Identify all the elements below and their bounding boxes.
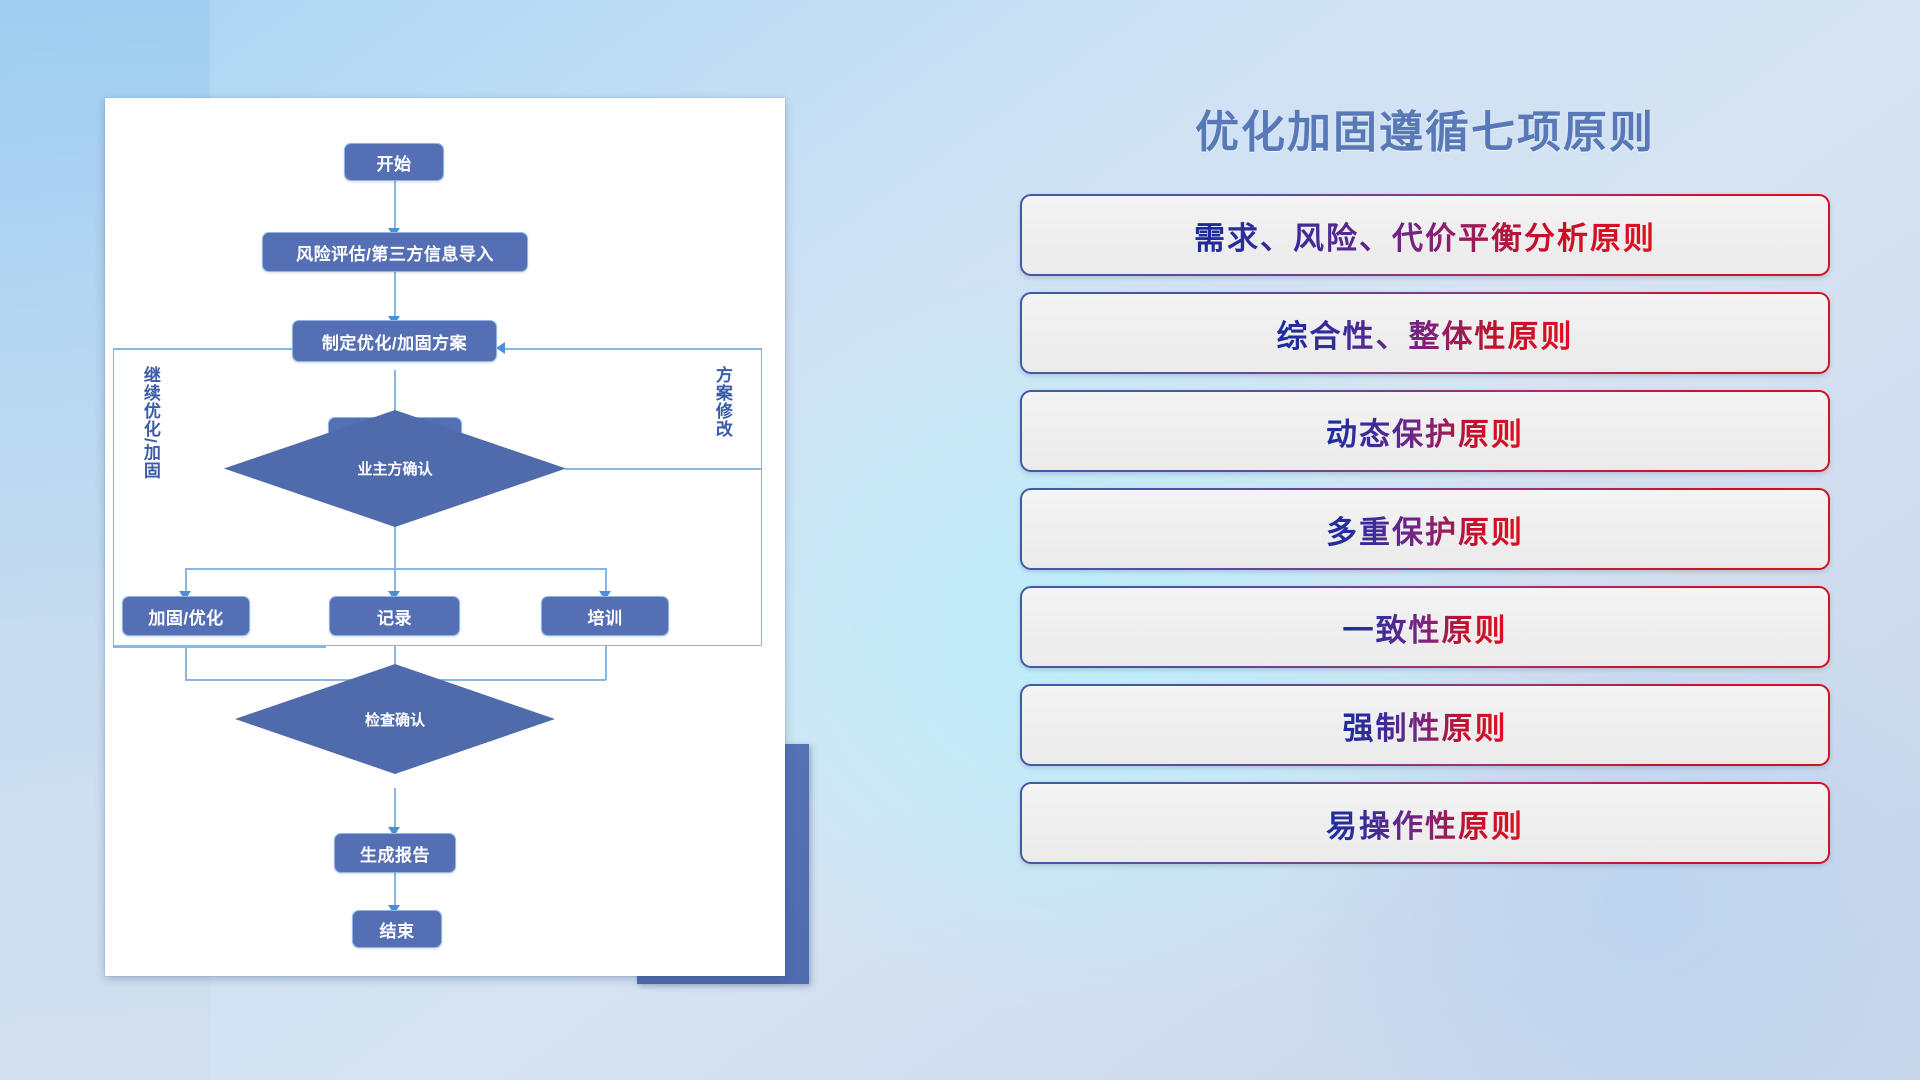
principle-card-inner: 综合性、整体性原则 [1022, 294, 1828, 372]
flow-node-start[interactable]: 开始 [344, 143, 444, 181]
principle-card[interactable]: 动态保护原则 [1020, 390, 1830, 472]
connector-reinforce-merge [185, 646, 187, 680]
arrowhead-rightloop-plan [496, 342, 505, 354]
connector-check-leftloop [113, 646, 326, 648]
principle-card[interactable]: 强制性原则 [1020, 684, 1830, 766]
principle-card-inner: 易操作性原则 [1022, 784, 1828, 862]
principle-card-inner: 多重保护原则 [1022, 490, 1828, 568]
principle-card-inner: 需求、风险、代价平衡分析原则 [1022, 196, 1828, 274]
flow-node-plan-label: 制定优化/加固方案 [322, 329, 467, 354]
panel-title: 优化加固遵循七项原则 [1020, 96, 1830, 160]
connector-owner-rightloop [565, 468, 762, 470]
flow-node-end[interactable]: 结束 [352, 910, 442, 948]
principle-card[interactable]: 需求、风险、代价平衡分析原则 [1020, 194, 1830, 276]
principle-card-label: 一致性原则 [1343, 605, 1508, 650]
edge-label-plan-revision: 方案修改 [713, 366, 731, 438]
flowchart-card: 继续优化/加固 方案修改 [105, 98, 785, 976]
flow-node-record-label: 记录 [377, 604, 412, 629]
principle-card-label: 动态保护原则 [1326, 409, 1524, 454]
flow-node-owner-confirm-label: 业主方确认 [357, 458, 432, 479]
flow-node-start-label: 开始 [377, 150, 412, 175]
flow-node-check-confirm-label: 检查确认 [365, 709, 425, 730]
connector-check-report [394, 788, 396, 832]
connector-train-merge [605, 646, 607, 680]
flow-node-plan[interactable]: 制定优化/加固方案 [292, 320, 497, 362]
flow-node-record[interactable]: 记录 [329, 596, 460, 636]
connector-start-risk [394, 178, 396, 232]
flow-node-reinforce-optimize-label: 加固/优化 [148, 604, 223, 629]
flow-node-training-label: 培训 [588, 604, 623, 629]
edge-label-continue-optimize: 继续优化/加固 [141, 366, 159, 480]
principle-card-label: 强制性原则 [1343, 703, 1508, 748]
flow-node-risk-assessment-label: 风险评估/第三方信息导入 [296, 240, 494, 265]
flow-node-risk-assessment[interactable]: 风险评估/第三方信息导入 [262, 232, 528, 272]
flow-node-reinforce-optimize[interactable]: 加固/优化 [122, 596, 250, 636]
principle-card[interactable]: 多重保护原则 [1020, 488, 1830, 570]
connector-risk-plan [394, 268, 396, 320]
principle-card-label: 需求、风险、代价平衡分析原则 [1194, 213, 1656, 258]
principle-card[interactable]: 一致性原则 [1020, 586, 1830, 668]
flow-node-training[interactable]: 培训 [541, 596, 669, 636]
principle-card-label: 综合性、整体性原则 [1277, 311, 1574, 356]
connector-owner-bus [394, 526, 396, 570]
flow-node-end-label: 结束 [380, 917, 415, 942]
slide-canvas: 继续优化/加固 方案修改 [0, 0, 1920, 1080]
connector-rightloop-plan [505, 348, 762, 350]
principle-card-label: 易操作性原则 [1326, 801, 1524, 846]
principle-card-inner: 动态保护原则 [1022, 392, 1828, 470]
principle-card[interactable]: 易操作性原则 [1020, 782, 1830, 864]
principle-card-label: 多重保护原则 [1326, 507, 1524, 552]
principle-card-inner: 一致性原则 [1022, 588, 1828, 666]
principle-card[interactable]: 综合性、整体性原则 [1020, 292, 1830, 374]
principles-list: 需求、风险、代价平衡分析原则 综合性、整体性原则 动态保护原则 多重保护原则 [1020, 194, 1830, 864]
flow-node-generate-report-label: 生成报告 [360, 841, 430, 866]
principle-card-inner: 强制性原则 [1022, 686, 1828, 764]
flow-node-generate-report[interactable]: 生成报告 [334, 833, 456, 873]
flowchart-stage: 继续优化/加固 方案修改 [105, 98, 785, 976]
principles-panel: 优化加固遵循七项原则 需求、风险、代价平衡分析原则 综合性、整体性原则 动态保护… [1020, 96, 1830, 1016]
